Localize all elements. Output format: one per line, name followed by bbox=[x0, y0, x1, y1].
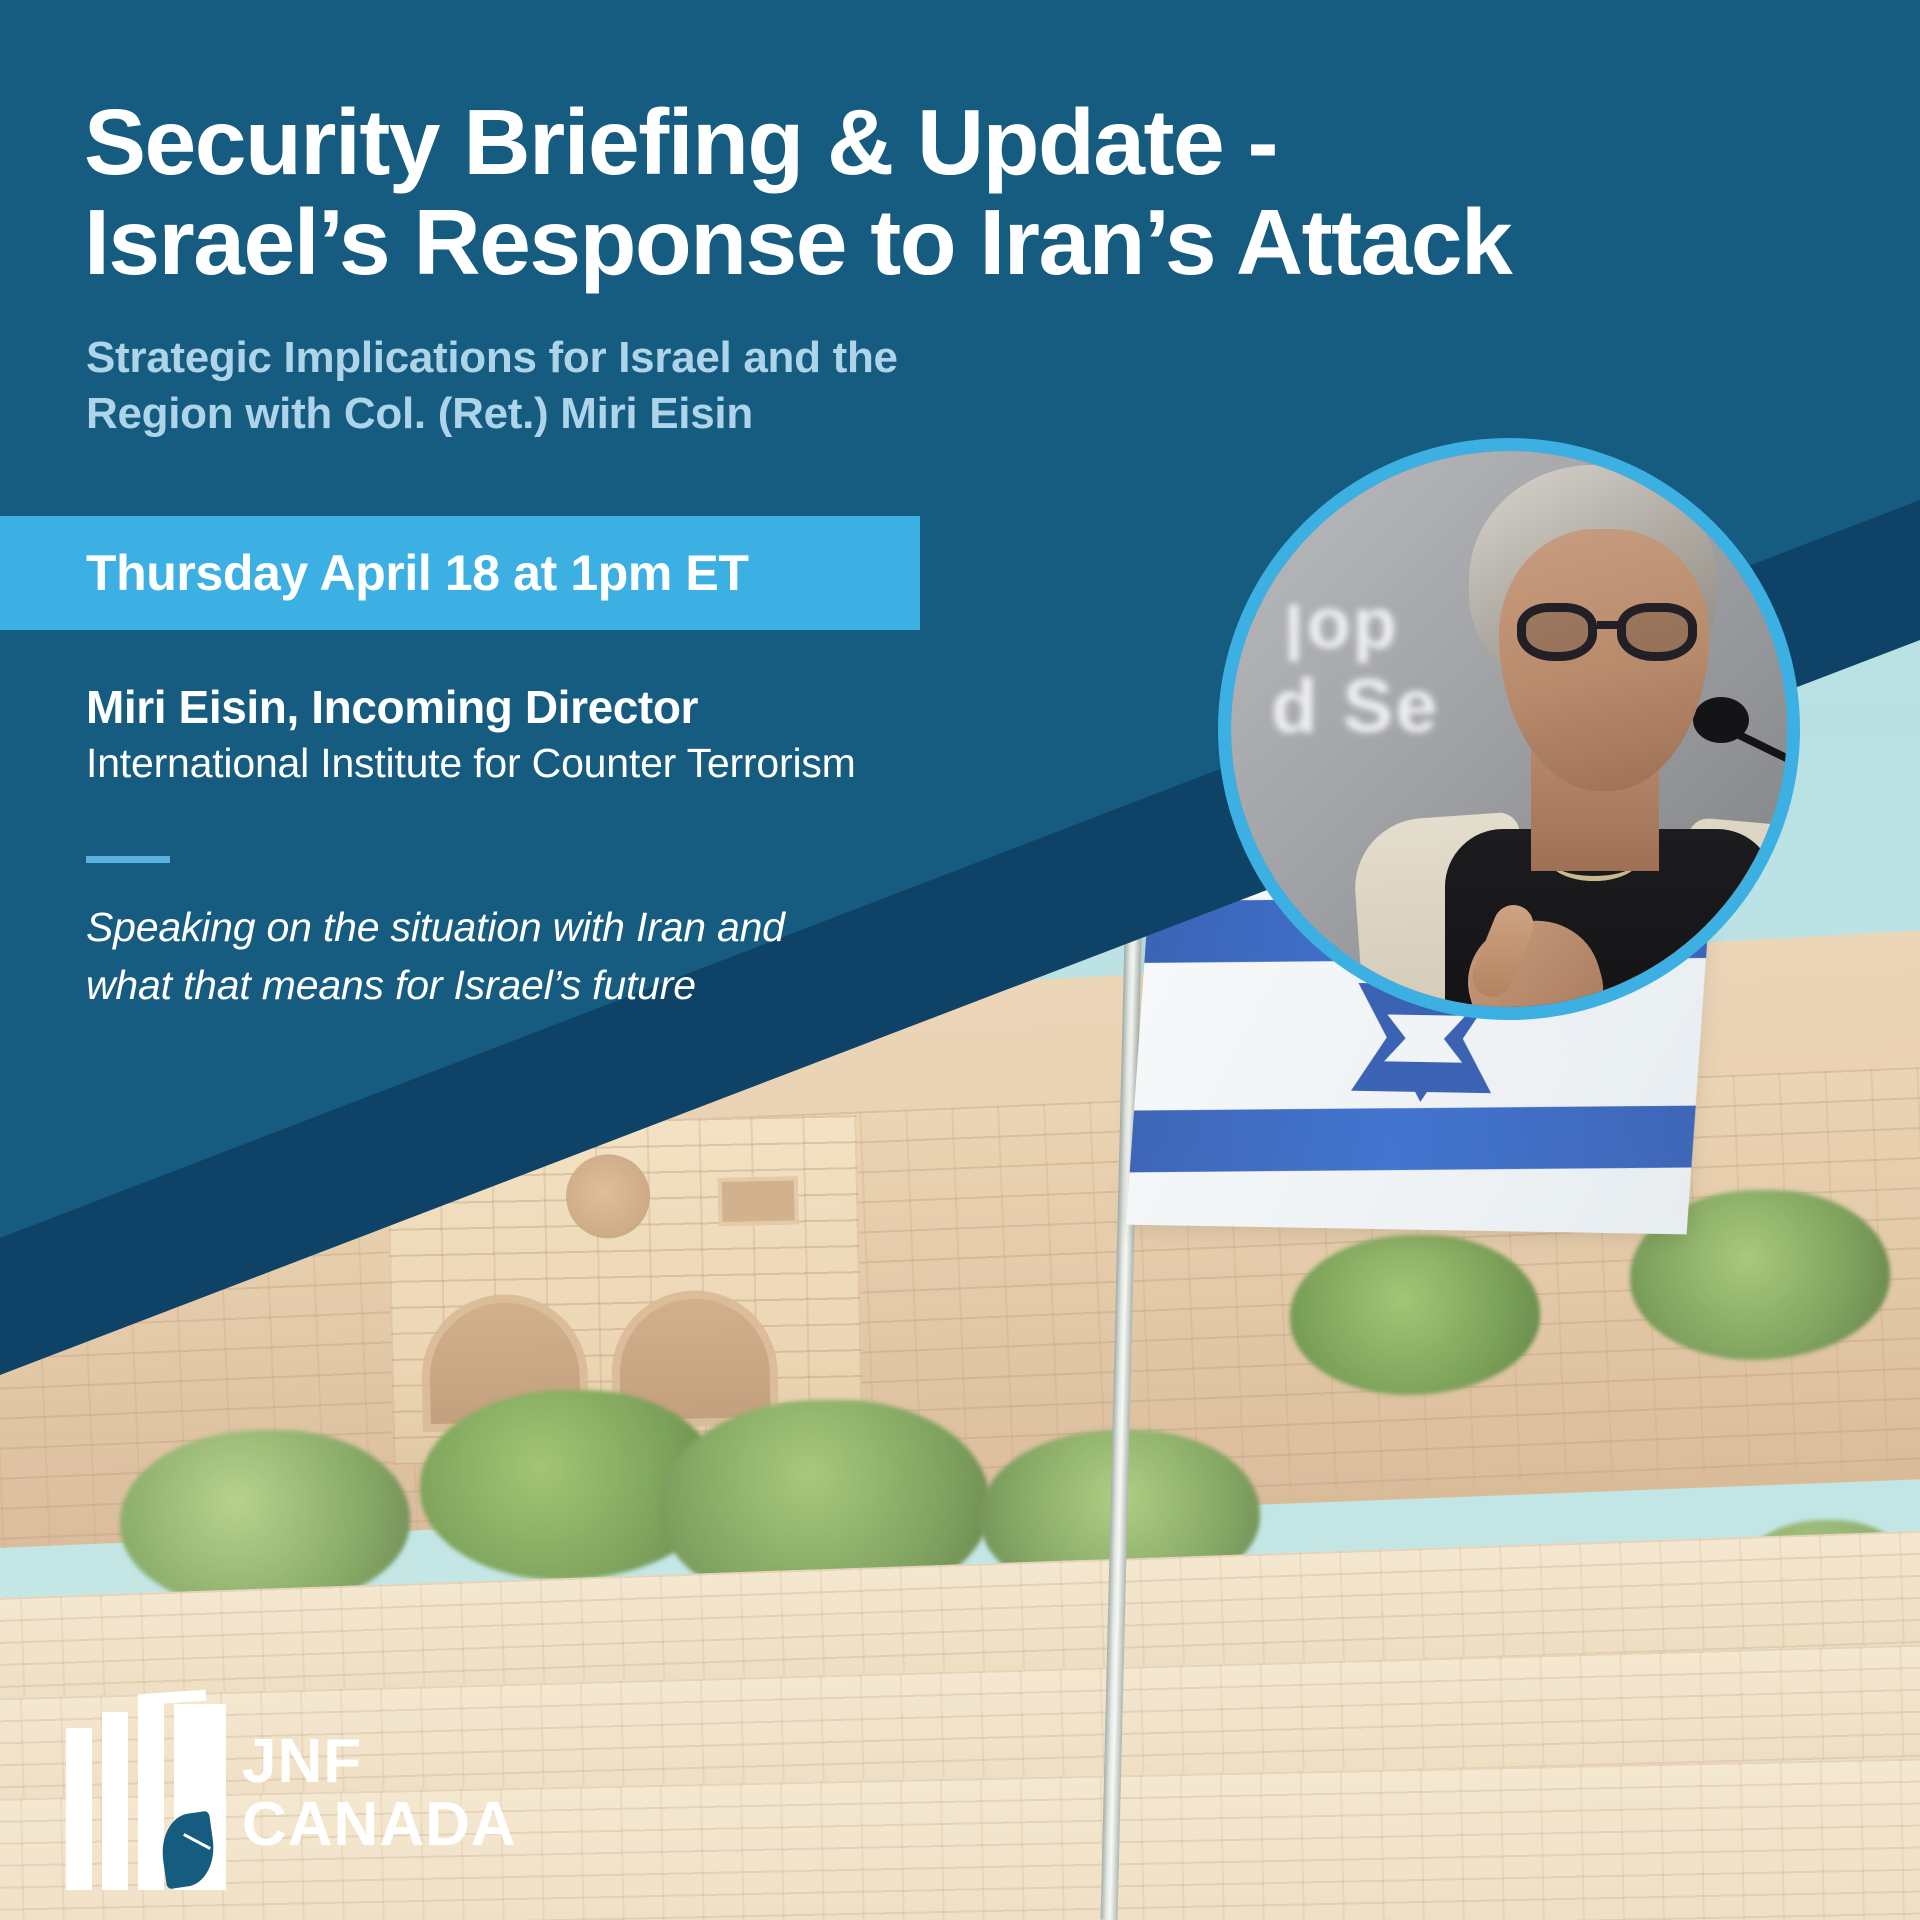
page-title: Security Briefing & Update - Israel’s Re… bbox=[84, 92, 1514, 293]
jnf-logo-wordmark: JNF CANADA bbox=[242, 1730, 517, 1856]
jnf-logo-mark-icon bbox=[66, 1690, 226, 1890]
promotional-poster: ןop d Se Security Briefing & Update - Is… bbox=[0, 0, 1920, 1920]
flag-stripe-bottom bbox=[1126, 1105, 1714, 1172]
backdrop-text-line2: d Se bbox=[1271, 663, 1440, 750]
foliage-cluster bbox=[1290, 1235, 1540, 1395]
speaker-name: Miri Eisin, Incoming Director bbox=[86, 680, 698, 734]
eyeglasses-icon bbox=[1517, 603, 1709, 663]
date-banner: Thursday April 18 at 1pm ET bbox=[0, 516, 920, 630]
speaker-blurb: Speaking on the situation with Iran and … bbox=[86, 898, 786, 1014]
speaker-organization: International Institute for Counter Terr… bbox=[86, 740, 856, 787]
logo-line-jnf: JNF bbox=[242, 1730, 517, 1793]
divider bbox=[86, 856, 170, 863]
foliage-cluster bbox=[120, 1430, 410, 1610]
gate-medallion bbox=[565, 1153, 651, 1239]
gate-window bbox=[718, 1176, 799, 1226]
backdrop-text-line1: ןop bbox=[1283, 583, 1399, 665]
speaker-portrait: ןop d Se bbox=[1218, 438, 1800, 1020]
logo-line-canada: CANADA bbox=[242, 1793, 517, 1856]
jnf-canada-logo: JNF CANADA bbox=[66, 1690, 486, 1890]
microphone-icon bbox=[1693, 697, 1749, 743]
date-banner-text: Thursday April 18 at 1pm ET bbox=[86, 544, 749, 602]
page-subtitle: Strategic Implications for Israel and th… bbox=[86, 330, 1046, 443]
